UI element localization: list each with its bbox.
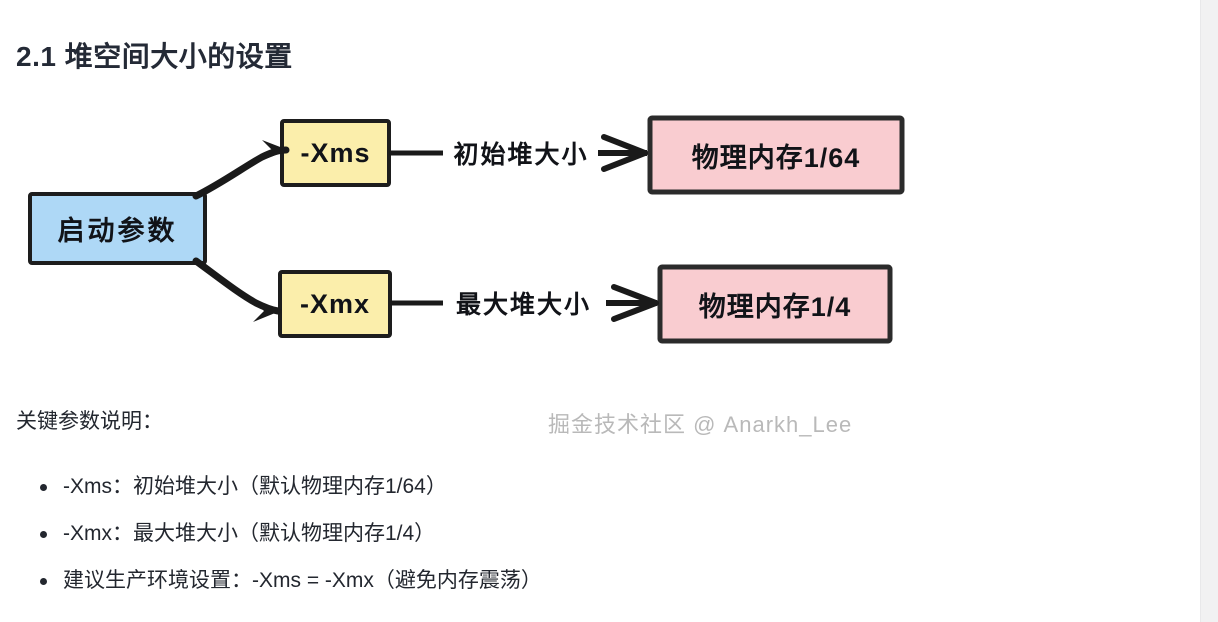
xms-node-box	[282, 121, 389, 185]
diagram-node-result-xmx	[660, 267, 890, 341]
bullet-dot-icon	[40, 531, 47, 538]
result-xms-node-box	[650, 118, 902, 192]
heap-size-diagram: 启动参数 -Xms -Xmx 物理内存1/64 物理内存1/4 初始堆大小 最大…	[0, 95, 960, 385]
arrow-root-to-xms	[196, 140, 288, 196]
diagram-node-root	[30, 194, 205, 263]
bullet-dot-icon	[40, 578, 47, 585]
bullet-dot-icon	[40, 484, 47, 491]
arrow-root-to-xmx	[196, 261, 280, 322]
result-xmx-node-box	[660, 267, 890, 341]
diagram-node-xms	[282, 121, 389, 185]
page-title: 2.1 堆空间大小的设置	[16, 35, 293, 75]
diagram-node-result-xms	[650, 118, 902, 192]
list-item-label: 建议生产环境设置：-Xms = -Xmx（避免内存震荡）	[63, 569, 542, 592]
diagram-node-xmx	[280, 272, 390, 336]
list-item: 建议生产环境设置：-Xms = -Xmx（避免内存震荡）	[16, 566, 916, 596]
key-params-list: -Xms：初始堆大小（默认物理内存1/64） -Xmx：最大堆大小（默认物理内存…	[16, 472, 916, 613]
document-page: 2.1 堆空间大小的设置	[0, 0, 1200, 622]
watermark-text: 掘金技术社区 @ Anarkh_Lee	[548, 407, 852, 439]
key-params-lead: 关键参数说明：	[16, 405, 163, 435]
list-item: -Xmx：最大堆大小（默认物理内存1/4）	[16, 519, 916, 549]
root-node-box	[30, 194, 205, 263]
connector-xms-to-result	[389, 137, 647, 169]
list-item-label: -Xms：初始堆大小（默认物理内存1/64）	[63, 475, 447, 498]
list-item-label: -Xmx：最大堆大小（默认物理内存1/4）	[63, 522, 435, 545]
connector-xmx-to-result	[390, 287, 657, 319]
vertical-scrollbar[interactable]	[1200, 0, 1218, 622]
list-item: -Xms：初始堆大小（默认物理内存1/64）	[16, 472, 916, 502]
xmx-node-box	[280, 272, 390, 336]
